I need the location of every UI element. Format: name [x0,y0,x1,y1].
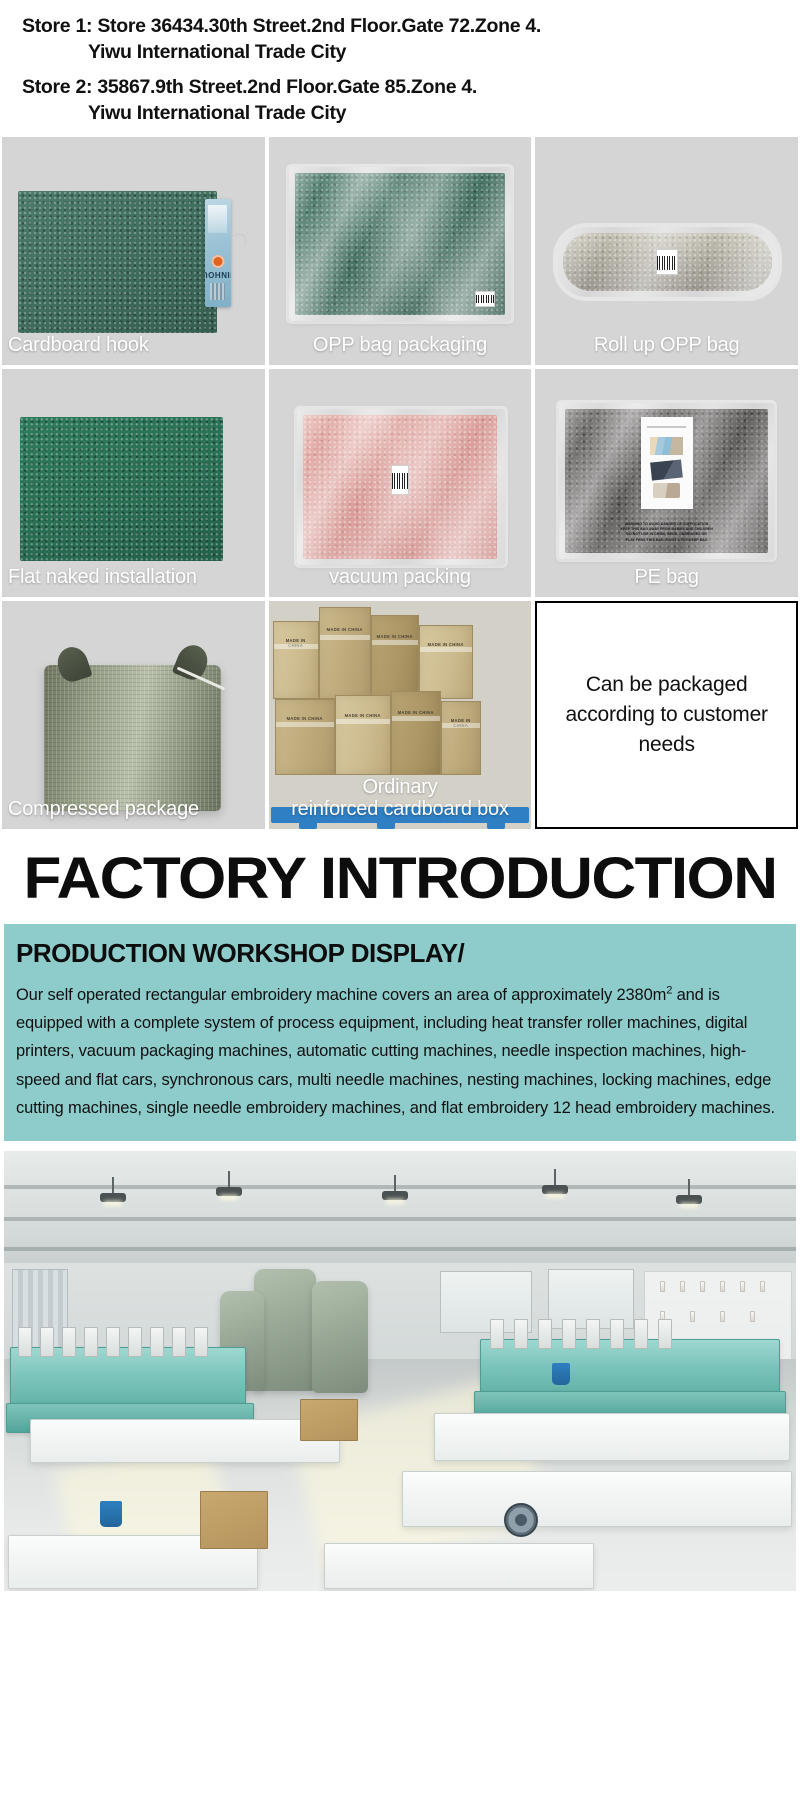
machine-head [150,1327,164,1357]
embroidery-workshop-photo [4,1151,796,1591]
custom-packaging-note-box: Can be packaged according to customer ne… [535,601,798,829]
production-workshop-panel: PRODUCTION WORKSHOP DISPLAY/ Our self op… [4,924,796,1141]
machine-head [586,1319,600,1349]
store2-address-line2: Yiwu International Trade City [0,101,800,127]
machine-head [490,1319,504,1349]
compressed-sack-photo [2,601,265,829]
packaging-caption: vacuum packing [269,566,532,588]
packaging-options-grid: JINHOU Cardboard hook OPP bag packaging … [0,137,800,829]
thread-spool [720,1281,725,1292]
ceiling-lamp [676,1195,702,1204]
machine-head [514,1319,528,1349]
body-text-part2: and is equipped with a complete system o… [16,986,775,1118]
packaging-cell-opp-bag[interactable]: OPP bag packaging [269,137,532,365]
opp-bag-photo [269,137,532,365]
vacuum-pack-photo [269,369,532,597]
thread-spool [750,1311,755,1322]
ceiling-beam [4,1247,796,1251]
machine-head [562,1319,576,1349]
work-table [402,1471,792,1527]
body-text-part1: Our self operated rectangular embroidery… [16,986,666,1004]
thread-spool [720,1311,725,1322]
machine-head [538,1319,552,1349]
caption-ordinary: Ordinary [362,776,437,798]
packaging-caption: PE bag [535,566,798,588]
packaging-cell-cardboard-hook[interactable]: JINHOU Cardboard hook [2,137,265,365]
machine-head [18,1327,32,1357]
machine-head [610,1319,624,1349]
thread-spool [740,1281,745,1292]
machine-head [634,1319,648,1349]
custom-packaging-note-text: Can be packaged according to customer ne… [537,670,796,759]
packaging-caption: OPP bag packaging [269,334,532,356]
cardboard-box [200,1491,268,1549]
machine-head [128,1327,142,1357]
blue-bucket [100,1501,122,1527]
ceiling-beam [4,1185,796,1189]
blue-bucket [552,1363,570,1385]
packaging-caption: Flat naked installation [2,566,265,588]
machine-head [658,1319,672,1349]
store-address-block: Store 1: Store 36434.30th Street.2nd Flo… [0,0,800,137]
machine-head [172,1327,186,1357]
store1-address-line1: Store 1: Store 36434.30th Street.2nd Flo… [0,14,800,40]
rolled-mat-photo [535,137,798,365]
mat-with-hangtag-photo: JINHOU [2,137,265,365]
packaging-caption: Cardboard hook [2,334,265,356]
work-table [324,1543,594,1589]
flat-mat-photo [2,369,265,597]
ceiling-beam [4,1217,796,1221]
packaging-cell-carton-box[interactable]: MADE IN CHINA MADE IN CHINA MADE IN CHIN… [269,601,532,829]
thread-spool [700,1281,705,1292]
ceiling-lamp [216,1187,242,1196]
packaging-cell-pe-bag[interactable]: WARNING TO AVOID DANGER OF SUFFOCATION K… [535,369,798,597]
address-spacer [0,66,800,75]
machine-head [194,1327,208,1357]
packaging-cell-flat-naked[interactable]: Flat naked installation [2,369,265,597]
thread-spool [680,1281,685,1292]
packaging-cell-compressed[interactable]: Compressed package [2,601,265,829]
caption-reinforced-box: reinforced cardboard box [291,798,509,820]
thread-spool [690,1311,695,1322]
thread-spool [660,1281,665,1292]
ceiling-lamp [382,1191,408,1200]
thread-spool [760,1281,765,1292]
pe-bag-photo: WARNING TO AVOID DANGER OF SUFFOCATION K… [535,369,798,597]
machine-head [62,1327,76,1357]
store1-address-line2: Yiwu International Trade City [0,40,800,66]
production-workshop-body: Our self operated rectangular embroidery… [16,981,784,1123]
packaging-caption: Ordinary reinforced cardboard box Ordina… [269,776,532,821]
floor-fan [504,1503,538,1537]
fabric-bundle [312,1281,368,1393]
cardboard-box [300,1399,358,1441]
packaging-cell-roll-up-opp[interactable]: Roll up OPP bag [535,137,798,365]
packaging-cell-vacuum[interactable]: vacuum packing [269,369,532,597]
production-workshop-heading: PRODUCTION WORKSHOP DISPLAY/ [16,938,784,969]
machine-head [40,1327,54,1357]
packaging-caption: Roll up OPP bag [535,334,798,356]
work-table [434,1413,790,1461]
ceiling-lamp [100,1193,126,1202]
factory-introduction-title: FACTORY INTRODUCTION [0,829,800,924]
machine-head [84,1327,98,1357]
work-table [30,1419,340,1463]
store2-address-line1: Store 2: 35867.9th Street.2nd Floor.Gate… [0,75,800,101]
machine-head [106,1327,120,1357]
packaging-caption: Compressed package [2,798,265,820]
workshop-ceiling [4,1151,796,1269]
ceiling-lamp [542,1185,568,1194]
